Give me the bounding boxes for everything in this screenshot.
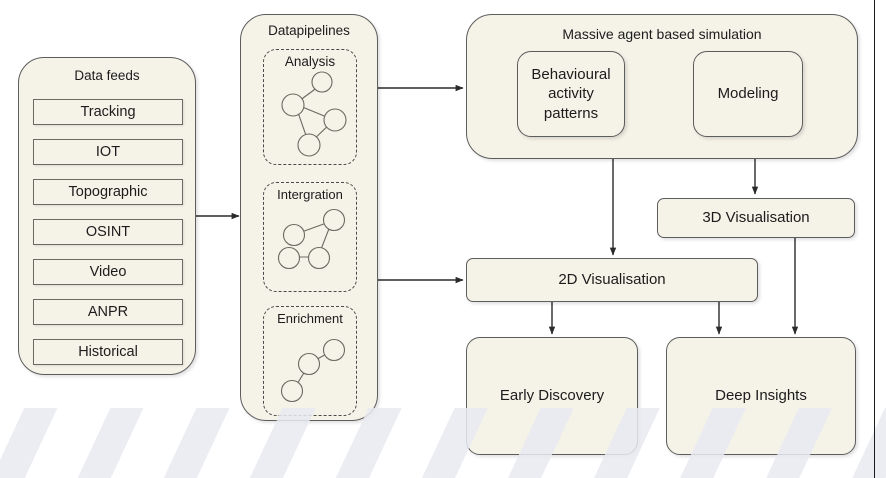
datapipelines-group[interactable]: Datapipelines Analysis — [240, 14, 378, 421]
data-feed-item-topographic[interactable]: Topographic — [33, 179, 183, 205]
network-graph-icon — [264, 307, 358, 417]
network-graph-icon — [264, 183, 358, 293]
pipeline-stage-analysis[interactable]: Analysis — [263, 49, 357, 165]
two-d-visualisation-label: 2D Visualisation — [467, 259, 757, 301]
deep-insights-label: Deep Insights — [667, 338, 855, 454]
three-d-visualisation-node[interactable]: 3D Visualisation — [657, 198, 855, 238]
modeling-label: Modeling — [694, 52, 802, 136]
simulation-group[interactable]: Massive agent based simulation Behaviour… — [466, 14, 858, 159]
data-feed-item-historical[interactable]: Historical — [33, 339, 183, 365]
simulation-title: Massive agent based simulation — [467, 26, 857, 42]
data-feed-item-video[interactable]: Video — [33, 259, 183, 285]
early-discovery-node[interactable]: Early Discovery — [466, 337, 638, 455]
data-feeds-title: Data feeds — [19, 68, 195, 83]
two-d-visualisation-node[interactable]: 2D Visualisation — [466, 258, 758, 302]
three-d-visualisation-label: 3D Visualisation — [658, 199, 854, 237]
page-right-rule — [874, 0, 875, 478]
modeling-node[interactable]: Modeling — [693, 51, 803, 137]
pipeline-stage-intergration[interactable]: Intergration — [263, 182, 357, 292]
data-feed-item-anpr[interactable]: ANPR — [33, 299, 183, 325]
datapipelines-title: Datapipelines — [241, 23, 377, 38]
data-feed-item-tracking[interactable]: Tracking — [33, 99, 183, 125]
data-feed-item-iot[interactable]: IOT — [33, 139, 183, 165]
deep-insights-node[interactable]: Deep Insights — [666, 337, 856, 455]
network-graph-icon — [264, 50, 358, 166]
behavioural-activity-patterns-node[interactable]: Behavioural activity patterns — [517, 51, 625, 137]
behavioural-activity-patterns-label: Behavioural activity patterns — [518, 52, 624, 136]
diagram-canvas: Data feeds Tracking IOT Topographic OSIN… — [0, 0, 886, 478]
pipeline-stage-enrichment[interactable]: Enrichment — [263, 306, 357, 416]
data-feed-item-osint[interactable]: OSINT — [33, 219, 183, 245]
data-feeds-group[interactable]: Data feeds Tracking IOT Topographic OSIN… — [18, 57, 196, 375]
early-discovery-label: Early Discovery — [467, 338, 637, 454]
